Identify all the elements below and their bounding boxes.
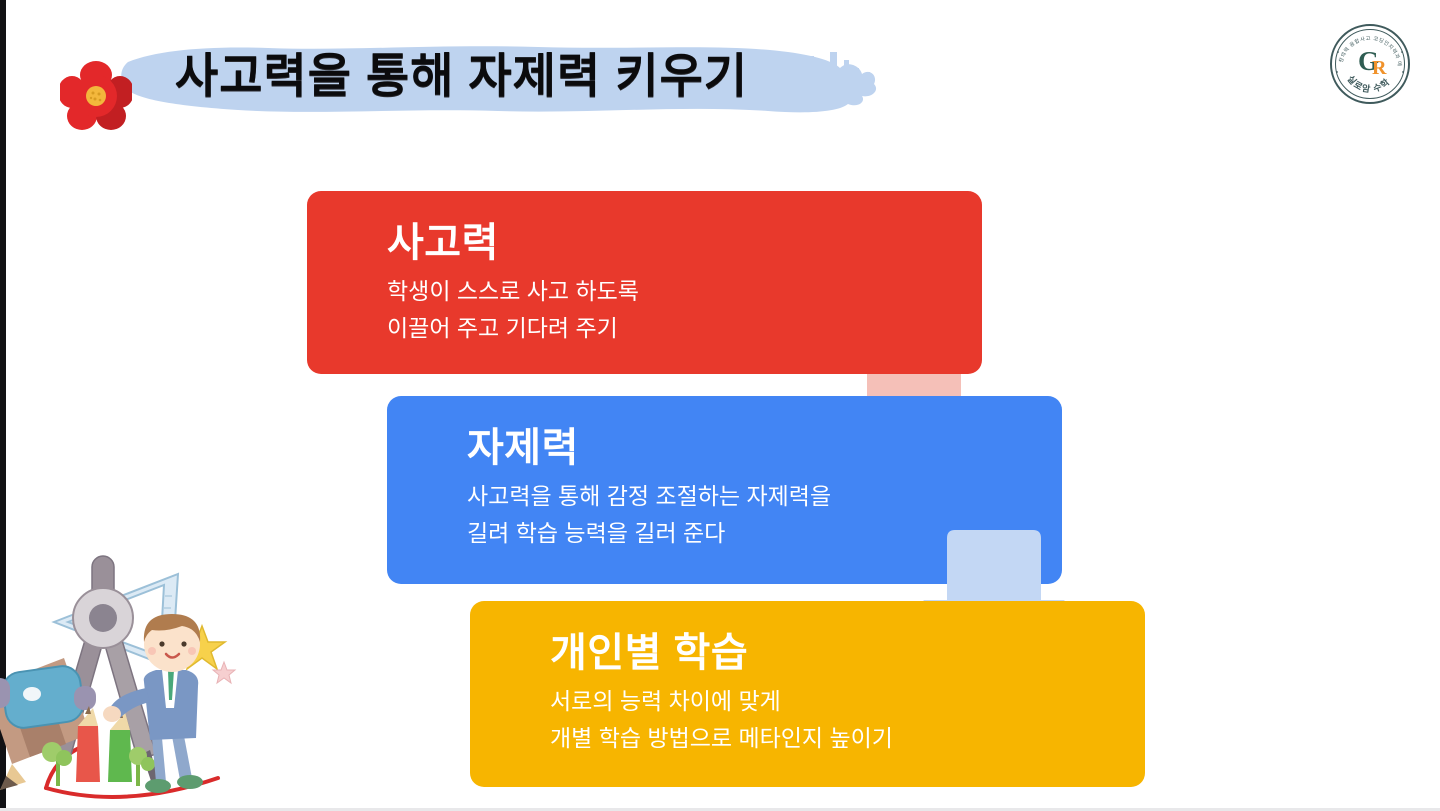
page-title: 사고력을 통해 자제력 키우기 [175, 42, 748, 110]
card-thinking-line-1: 학생이 스스로 사고 하도록 [387, 273, 982, 310]
flower-icon [60, 60, 132, 132]
slide-title-group: 사고력을 통해 자제력 키우기 [60, 22, 880, 132]
card-individual-learning-line-2: 개별 학습 방법으로 메타인지 높이기 [550, 720, 1145, 757]
student-with-compass-illustration [0, 538, 254, 806]
card-selfcontrol-line-1: 사고력을 통해 감정 조절하는 자제력을 [467, 478, 1062, 515]
card-thinking-title: 사고력 [387, 217, 982, 269]
card-individual-learning-line-1: 서로의 능력 차이에 맞게 [550, 683, 1145, 720]
card-individual-learning: 개인별 학습 서로의 능력 차이에 맞게 개별 학습 방법으로 메타인지 높이기 [470, 601, 1145, 787]
slide-canvas: 사고력을 통해 자제력 키우기 창의력 융합사고 코딩인지력과 메타인지력 실로… [0, 0, 1440, 811]
card-selfcontrol-title: 자제력 [467, 422, 1062, 474]
svg-text:R: R [1372, 57, 1387, 79]
card-thinking: 사고력 학생이 스스로 사고 하도록 이끌어 주고 기다려 주기 [307, 191, 982, 374]
card-individual-learning-title: 개인별 학습 [550, 627, 1145, 679]
card-thinking-line-2: 이끌어 주고 기다려 주기 [387, 310, 982, 347]
brand-logo-stamp: 창의력 융합사고 코딩인지력과 메타인지력 실로암 수학 G R [1328, 22, 1412, 106]
